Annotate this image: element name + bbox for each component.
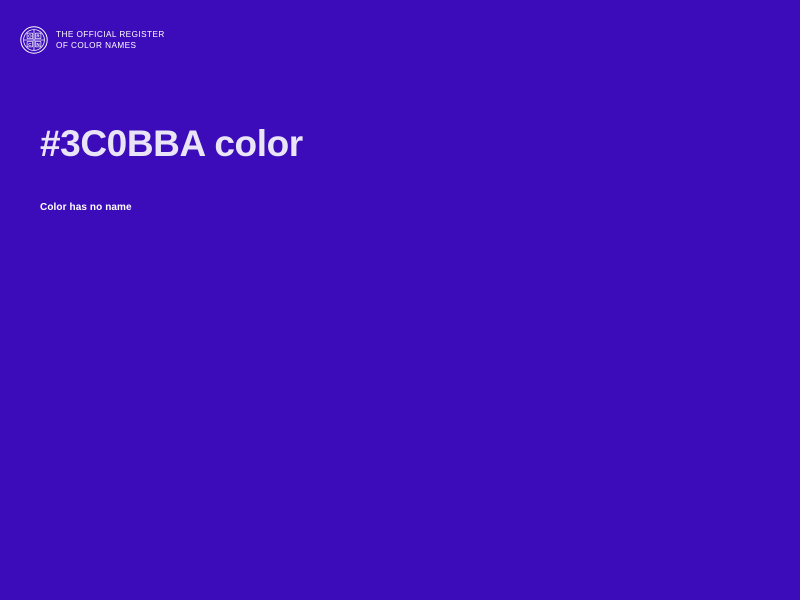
brand-wordmark-line-2: OF COLOR NAMES: [56, 41, 165, 52]
page-title: #3C0BBA color: [40, 122, 740, 166]
color-page: O R C N THE OFFICIAL REGISTER OF COLOR N…: [0, 0, 800, 600]
color-name-status: Color has no name: [40, 166, 740, 214]
svg-text:R: R: [36, 34, 40, 39]
site-brand[interactable]: O R C N THE OFFICIAL REGISTER OF COLOR N…: [19, 25, 165, 55]
svg-text:O: O: [28, 34, 32, 39]
color-detail: #3C0BBA color Color has no name: [40, 122, 740, 214]
brand-wordmark: THE OFFICIAL REGISTER OF COLOR NAMES: [56, 29, 165, 51]
register-seal-icon: O R C N: [19, 25, 49, 55]
svg-text:C: C: [28, 42, 32, 47]
brand-wordmark-line-1: THE OFFICIAL REGISTER: [56, 30, 165, 41]
register-seal-glyph: O R C N: [19, 25, 49, 55]
svg-text:N: N: [36, 42, 40, 47]
